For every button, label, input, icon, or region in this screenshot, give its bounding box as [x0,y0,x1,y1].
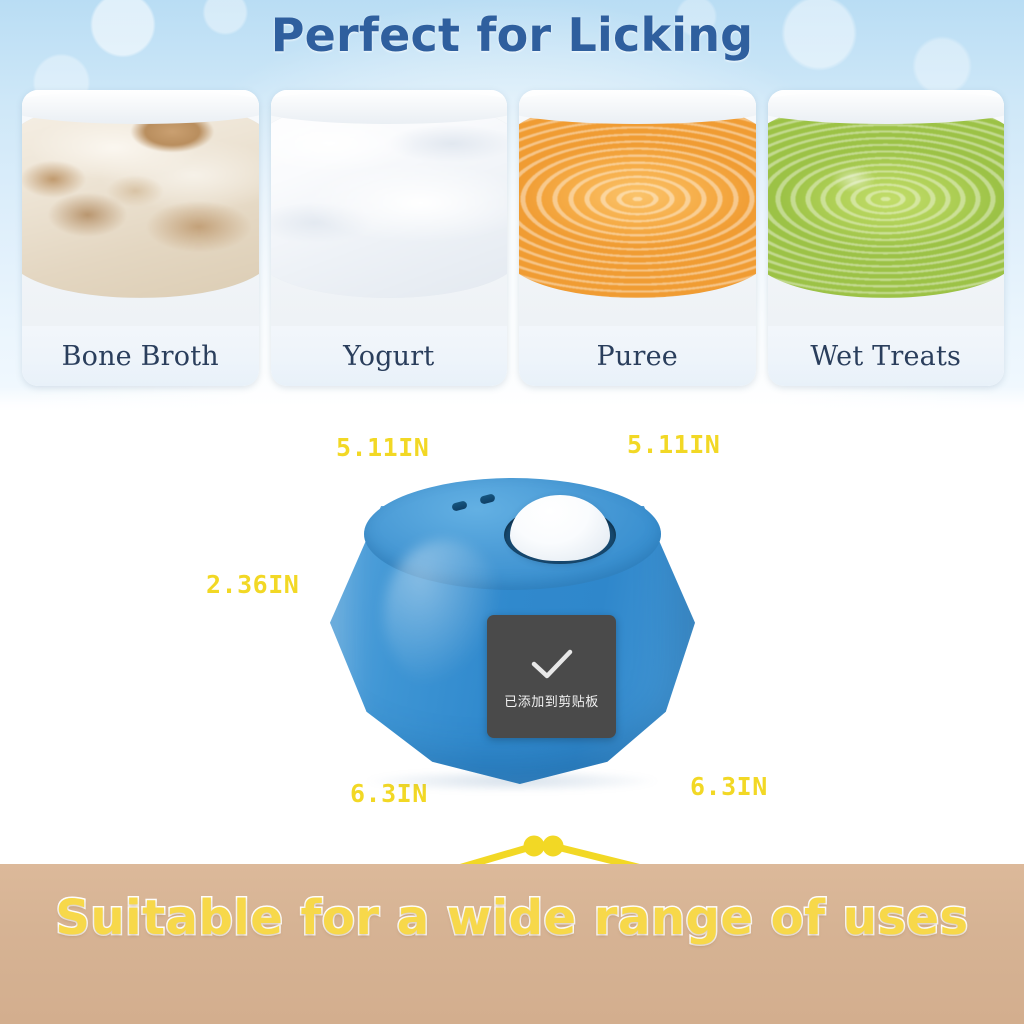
product-vent-slot-1 [451,500,467,511]
food-panel-yogurt: Yogurt [271,90,508,386]
food-panel-wet-treats: Wet Treats [768,90,1005,386]
toast-message: 已添加到剪贴板 [504,696,599,709]
product-marketing-image: Perfect for Licking Bone Broth Yogurt [0,0,1024,1024]
food-panel-bone-broth: Bone Broth [22,90,259,386]
banner-headline: Suitable for a wide range of uses [0,890,1024,946]
dimension-label-top-right: 5.11IN [627,430,720,459]
check-icon [530,648,574,682]
product-bowl-top-surface [364,478,661,590]
food-panel-label: Puree [519,326,756,386]
bowl-broth-icon [22,90,259,326]
food-panel-label: Wet Treats [768,326,1005,386]
clipboard-toast[interactable]: 已添加到剪贴板 [487,615,616,738]
page-title: Perfect for Licking [0,8,1024,62]
product-float-dome [510,495,610,561]
bowl-green-puree-icon [768,90,1005,326]
product-vent-slot-2 [479,493,495,504]
dimension-label-bottom-right: 6.3IN [690,772,768,801]
bowl-yogurt-icon [271,90,508,326]
dimension-label-height: 2.36IN [206,570,299,599]
food-panel-label: Bone Broth [22,326,259,386]
dimension-label-top-left: 5.11IN [336,433,429,462]
food-panel-row: Bone Broth Yogurt Puree [22,90,1004,386]
food-panel-puree: Puree [519,90,756,386]
food-panel-label: Yogurt [271,326,508,386]
bowl-puree-icon [519,90,756,326]
bottom-banner: Suitable for a wide range of uses [0,864,1024,1024]
